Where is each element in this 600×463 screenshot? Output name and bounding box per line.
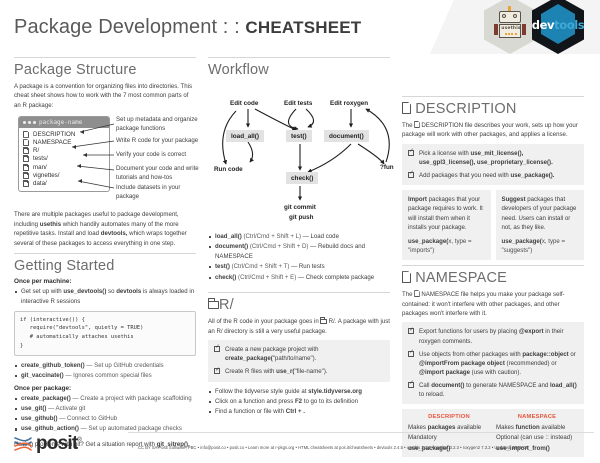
list-item: use_git() — Activate git bbox=[14, 404, 196, 414]
imports-text: Import packages that your package requir… bbox=[408, 195, 485, 232]
list-item: git_vaccinate() — Ignores common special… bbox=[14, 371, 196, 381]
devtools-hex-label-b: tools bbox=[554, 18, 584, 32]
window-titlebar: package-name bbox=[19, 117, 109, 128]
divider bbox=[14, 253, 196, 254]
package-structure-intro: A package is a convention for organizing… bbox=[14, 82, 196, 110]
suggests-text: Suggest packages that developers of your… bbox=[502, 195, 579, 232]
workflow-node-help-fun: ?fun bbox=[380, 164, 394, 171]
devtools-hex-label-a: dev bbox=[532, 18, 554, 32]
divider bbox=[14, 57, 196, 58]
list-item: DESCRIPTION bbox=[19, 130, 109, 138]
usethis-hex-logo: usethis bbox=[484, 0, 536, 54]
column-header: NAMESPACE bbox=[496, 414, 578, 420]
list-item: Click on a function and press F2 to go t… bbox=[208, 397, 390, 407]
list-item: Follow the tidyverse style guide at styl… bbox=[208, 387, 390, 397]
tip-row: Create R files with use_r("file-name"). bbox=[214, 367, 384, 376]
description-tipbox: Pick a license with use_mit_license(), u… bbox=[402, 144, 584, 185]
file-name: vignettes/ bbox=[33, 172, 59, 179]
workflow-node-edit-code: Edit code bbox=[230, 100, 258, 107]
posit-wordmark: posit® bbox=[36, 433, 81, 455]
suggests-panel: Suggest packages that developers of your… bbox=[496, 190, 585, 260]
list-item: create_github_token() — Set up GitHub cr… bbox=[14, 361, 196, 371]
package-structure-outro: There are multiple packages useful to pa… bbox=[14, 210, 196, 248]
column-left: Package Structure A package is a convent… bbox=[8, 52, 202, 457]
folder-icon bbox=[23, 180, 29, 187]
checkbox-icon bbox=[214, 368, 220, 374]
file-icon bbox=[23, 139, 29, 146]
folder-icon bbox=[23, 164, 29, 171]
annotation: Include datasets in your package bbox=[116, 184, 204, 202]
list-item: test() (Ctrl/Cmd + Shift + T) — Run test… bbox=[208, 262, 390, 272]
file-name: data/ bbox=[33, 180, 47, 187]
file-icon bbox=[23, 131, 29, 138]
workflow-box-load-all: load_all() bbox=[226, 130, 264, 142]
workflow-box-document: document() bbox=[324, 130, 369, 142]
divider bbox=[208, 292, 390, 293]
file-icon bbox=[414, 121, 420, 128]
column-right: DESCRIPTION The DESCRIPTION file describ… bbox=[396, 52, 590, 457]
usethis-robot-icon: usethis bbox=[497, 9, 523, 41]
section-title-r-dir: R/ bbox=[208, 297, 390, 313]
section-title-namespace: NAMESPACE bbox=[402, 270, 584, 286]
tip-row: Add packages that you need with use_pack… bbox=[408, 171, 578, 180]
file-name: DESCRIPTION bbox=[33, 131, 75, 138]
workflow-node-git-commit: git commit bbox=[284, 204, 316, 211]
imports-panel: Import packages that your package requir… bbox=[402, 190, 491, 260]
namespace-intro: The NAMESPACE file helps you make your p… bbox=[402, 290, 584, 318]
tip-text: Use objects from other packages with pac… bbox=[419, 350, 578, 377]
file-name: R/ bbox=[33, 147, 39, 154]
column-middle: Workflow bbox=[202, 52, 396, 457]
workflow-shortcuts-list: load_all() (Ctrl/Cmd + Shift + L) — Load… bbox=[208, 232, 390, 282]
checkbox-icon bbox=[408, 351, 414, 357]
tip-text: Call document() to generate NAMESPACE an… bbox=[419, 381, 578, 399]
folder-icon bbox=[208, 298, 219, 309]
package-file-list: DESCRIPTION NAMESPACE R/ tests/ man/ vig… bbox=[19, 128, 109, 190]
folder-icon bbox=[23, 147, 29, 154]
page-title: Package Development : : CHEATSHEET bbox=[14, 16, 361, 39]
annotation: Write R code for your package bbox=[116, 137, 198, 146]
package-structure-diagram: package-name DESCRIPTION NAMESPACE R/ te… bbox=[14, 114, 196, 206]
checkbox-icon bbox=[214, 346, 220, 352]
list-item: tests/ bbox=[19, 155, 109, 163]
tip-text: Add packages that you need with use_pack… bbox=[419, 171, 555, 180]
machine-setup-list: create_github_token() — Set up GitHub cr… bbox=[14, 361, 196, 381]
rprofile-code-block: if (interactive()) { require("devtools",… bbox=[14, 311, 196, 356]
list-item: R/ bbox=[19, 147, 109, 155]
tip-text: Create a new package project with create… bbox=[225, 345, 384, 363]
annotation: Set up metadata and organize package fun… bbox=[116, 116, 204, 134]
workflow-diagram: Edit code Edit tests Edit roxygen load_a… bbox=[208, 82, 390, 232]
tip-row: Call document() to generate NAMESPACE an… bbox=[408, 381, 578, 399]
content-columns: Package Structure A package is a convent… bbox=[0, 52, 600, 457]
imports-suggests-compare: Import packages that your package requir… bbox=[402, 190, 584, 260]
checkbox-icon bbox=[408, 150, 414, 156]
tip-row: Create a new package project with create… bbox=[214, 345, 384, 363]
subheading-once-per-machine: Once per machine: bbox=[14, 278, 196, 285]
footer-credits: CC BY SA Posit Software, PBC • info@posi… bbox=[138, 445, 594, 450]
folder-icon bbox=[23, 172, 29, 179]
machine-intro-list: Get set up with use_devtools() so devtoo… bbox=[14, 287, 196, 307]
usethis-hex-label: usethis bbox=[500, 26, 522, 31]
folder-icon bbox=[320, 317, 327, 324]
section-title-workflow: Workflow bbox=[208, 62, 390, 78]
posit-logo: posit® bbox=[14, 433, 81, 455]
workflow-box-test: test() bbox=[286, 130, 312, 142]
namespace-tipbox: Export functions for users by placing @e… bbox=[402, 322, 584, 404]
tip-row: Use objects from other packages with pac… bbox=[408, 350, 578, 377]
r-dir-bullets: Follow the tidyverse style guide at styl… bbox=[208, 387, 390, 417]
section-title-description: DESCRIPTION bbox=[402, 101, 584, 117]
window-title: package-name bbox=[39, 119, 82, 126]
file-icon bbox=[414, 290, 420, 297]
package-file-window: package-name DESCRIPTION NAMESPACE R/ te… bbox=[18, 116, 110, 191]
description-intro: The DESCRIPTION file describes your work… bbox=[402, 121, 584, 140]
file-name: man/ bbox=[33, 164, 47, 171]
workflow-node-run-code: Run code bbox=[214, 166, 243, 173]
list-item: Find a function or file with Ctrl + . bbox=[208, 407, 390, 417]
list-item: vignettes/ bbox=[19, 171, 109, 179]
annotation: Document your code and write tutorials a… bbox=[116, 165, 204, 183]
list-item: document() (Ctrl/Cmd + Shift + D) — Rebu… bbox=[208, 242, 390, 262]
section-title-package-structure: Package Structure bbox=[14, 62, 196, 78]
section-title-getting-started: Getting Started bbox=[14, 258, 196, 274]
divider bbox=[208, 57, 390, 58]
page-header: Package Development : : CHEATSHEET useth… bbox=[0, 0, 600, 52]
suggests-function: use_package(x, type = "suggests") bbox=[502, 237, 579, 255]
annotation: Verify your code is correct bbox=[116, 151, 186, 160]
page-title-bold: CHEATSHEET bbox=[245, 18, 361, 37]
tip-text: Pick a license with use_mit_license(), u… bbox=[419, 149, 578, 167]
checkbox-icon bbox=[408, 172, 414, 178]
list-item: NAMESPACE bbox=[19, 139, 109, 147]
file-icon bbox=[402, 102, 411, 114]
table-header-row: DESCRIPTION NAMESPACE bbox=[408, 414, 578, 420]
tip-row: Pick a license with use_mit_license(), u… bbox=[408, 149, 578, 167]
workflow-box-check: check() bbox=[286, 172, 318, 184]
subheading-once-per-package: Once per package: bbox=[14, 385, 196, 392]
file-name: NAMESPACE bbox=[33, 139, 71, 146]
file-name: tests/ bbox=[33, 155, 48, 162]
window-dots-icon bbox=[23, 121, 36, 124]
tip-text: Create R files with use_r("file-name"). bbox=[225, 367, 328, 376]
workflow-node-edit-roxygen: Edit roxygen bbox=[330, 100, 368, 107]
list-item: check() (Ctrl/Cmd + Shift + E) — Check c… bbox=[208, 273, 390, 283]
imports-function: use_package(x, type = "imports") bbox=[408, 237, 485, 255]
workflow-node-edit-tests: Edit tests bbox=[284, 100, 312, 107]
list-item: load_all() (Ctrl/Cmd + Shift + L) — Load… bbox=[208, 232, 390, 242]
cheatsheet-page: Package Development : : CHEATSHEET useth… bbox=[0, 0, 600, 463]
list-item: create_package() — Create a project with… bbox=[14, 394, 196, 404]
checkbox-icon bbox=[408, 328, 414, 334]
list-item: Get set up with use_devtools() so devtoo… bbox=[14, 287, 196, 307]
tip-row: Export functions for users by placing @e… bbox=[408, 327, 578, 345]
list-item: man/ bbox=[19, 163, 109, 171]
divider bbox=[402, 96, 584, 97]
posit-mark-icon bbox=[14, 436, 32, 452]
devtools-hex-logo: devtools bbox=[532, 0, 584, 54]
column-header: DESCRIPTION bbox=[408, 414, 490, 420]
file-icon bbox=[402, 271, 411, 283]
page-title-light: Package Development : : bbox=[14, 16, 245, 38]
tip-text: Export functions for users by placing @e… bbox=[419, 327, 578, 345]
workflow-node-git-push: git push bbox=[289, 214, 313, 221]
page-footer: posit® CC BY SA Posit Software, PBC • in… bbox=[0, 423, 600, 463]
logo-hexes: usethis devtools bbox=[476, 0, 592, 54]
r-dir-intro: All of the R code in your package goes i… bbox=[208, 317, 390, 336]
divider bbox=[402, 265, 584, 266]
footer-divider bbox=[128, 432, 594, 433]
r-dir-tipbox: Create a new package project with create… bbox=[208, 340, 390, 381]
list-item: data/ bbox=[19, 179, 109, 187]
checkbox-icon bbox=[408, 382, 414, 388]
folder-icon bbox=[23, 155, 29, 162]
